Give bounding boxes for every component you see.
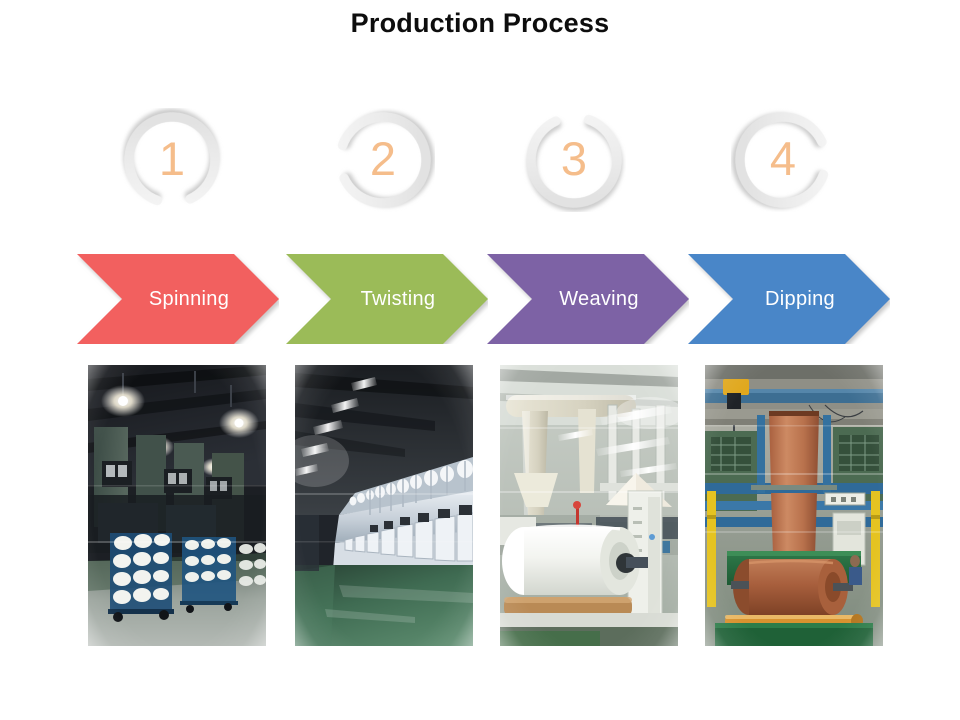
step-badge-2: 2: [331, 108, 435, 212]
step-number-2: 2: [331, 108, 435, 212]
step-badge-4: 4: [731, 108, 835, 212]
process-step-chevron-weaving[interactable]: Weaving: [487, 254, 689, 344]
photo-illustration: [500, 365, 678, 646]
chevron-label: Dipping: [688, 254, 890, 344]
step-badge-1: 1: [120, 108, 224, 212]
step-badge-3: 3: [522, 108, 626, 212]
photo-illustration: [295, 365, 473, 646]
chevron-label: Twisting: [286, 254, 488, 344]
process-step-chevron-spinning[interactable]: Spinning: [77, 254, 279, 344]
weaving-loom-photo: [500, 365, 678, 646]
photo-illustration: [705, 365, 883, 646]
process-step-chevron-twisting[interactable]: Twisting: [286, 254, 488, 344]
page-title: Production Process: [0, 8, 960, 39]
step-number-3: 3: [522, 108, 626, 212]
process-step-chevron-dipping[interactable]: Dipping: [688, 254, 890, 344]
twisting-machine-photo: [295, 365, 473, 646]
photo-illustration: [88, 365, 266, 646]
chevron-label: Spinning: [77, 254, 279, 344]
chevron-label: Weaving: [487, 254, 689, 344]
step-number-4: 4: [731, 108, 835, 212]
dipping-line-photo: [705, 365, 883, 646]
spinning-workshop-photo: [88, 365, 266, 646]
step-number-1: 1: [120, 108, 224, 212]
